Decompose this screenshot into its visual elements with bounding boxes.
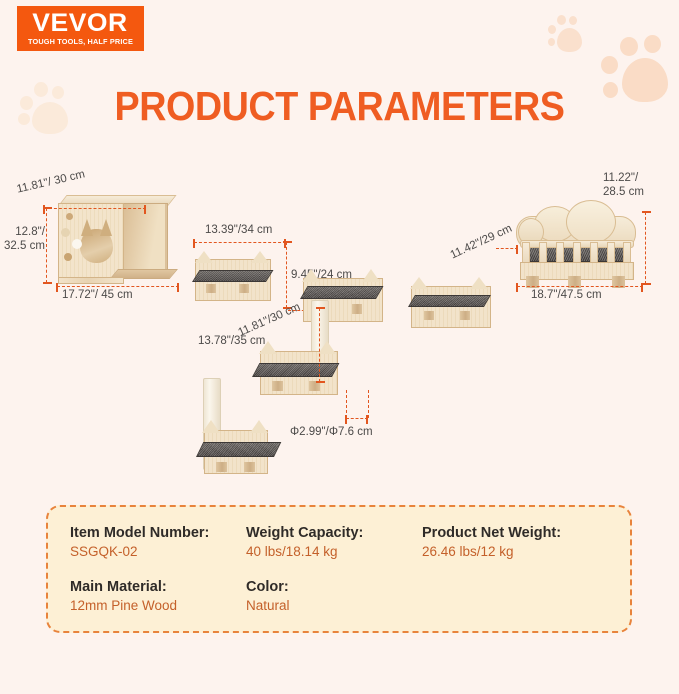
dimension-line-cloud-depth (496, 248, 518, 249)
cat-ear-left (202, 420, 220, 433)
spec-value: 40 lbs/18.14 kg (246, 543, 422, 561)
shelf-carpet-surface (408, 295, 491, 307)
dimension-line-cloud-width (517, 286, 643, 287)
decorative-hole (64, 253, 72, 261)
cat-ear-right (362, 269, 380, 282)
platform-bracket (244, 462, 255, 472)
vevor-logo: VEVOR TOUGH TOOLS, HALF PRICE (17, 6, 144, 51)
cat-ear-right (470, 277, 488, 289)
logo-wordmark: VEVOR (33, 12, 128, 35)
dimension-line-house-depth (57, 286, 179, 287)
shelf-backboard (411, 286, 491, 328)
dimension-label-house-depth: 17.72"/ 45 cm (62, 289, 133, 301)
shelf-carpet-surface (300, 286, 384, 299)
dimension-label-house-width-top: 11.81"/ 30 cm (16, 168, 87, 195)
cloud-railing-slats (522, 242, 630, 264)
product-platform-step-2 (252, 345, 340, 397)
dimension-line-house-height (46, 208, 47, 283)
product-cloud-perch (512, 200, 638, 296)
dimension-label-post-diameter: Φ2.99"/Φ7.6 cm (290, 426, 373, 438)
paw-print-decoration-top-right-small (548, 12, 590, 54)
platform-carpet-surface (252, 363, 339, 377)
spec-value: 12mm Pine Wood (70, 597, 246, 615)
spec-key: Weight Capacity: (246, 524, 422, 543)
dimension-label-shelf-depth: 11.81"/30 cm (236, 301, 302, 339)
dimension-line-cloud-height (645, 212, 646, 284)
dimension-label-house-height: 12.8"/ 32.5 cm (4, 226, 45, 253)
dimension-leader-post-left (346, 390, 347, 418)
dimension-line-step-rise (319, 308, 320, 382)
shelf-bracket (460, 311, 470, 320)
cat-ear-left (410, 277, 428, 289)
dimension-line-shelf-height (286, 242, 287, 308)
spec-value: SSGQK-02 (70, 543, 246, 561)
dimension-line-post-diameter (346, 418, 368, 419)
dimension-label-shelf-width: 13.39"/34 cm (205, 224, 272, 236)
shelf-bracket (352, 304, 362, 314)
shelf-bracket (206, 284, 216, 293)
dimension-label-cloud-height: 11.22"/ 28.5 cm (603, 172, 644, 199)
cat-ear-right (250, 420, 268, 433)
platform-carpet-surface (196, 442, 281, 457)
spec-item-main-material: Main Material: 12mm Pine Wood (70, 578, 246, 618)
spec-item-product-net-weight: Product Net Weight: 26.46 lbs/12 kg (422, 524, 616, 564)
spec-key: Color: (246, 578, 422, 597)
spec-key: Item Model Number: (70, 524, 246, 543)
decorative-hole (66, 213, 73, 220)
dimension-label-cloud-width: 18.7"/47.5 cm (531, 289, 602, 301)
cat-head-cutout (80, 219, 113, 263)
spec-item-model-number: Item Model Number: SSGQK-02 (70, 524, 246, 564)
specification-panel: Item Model Number: SSGQK-02 Weight Capac… (46, 505, 632, 633)
cat-ear-right (251, 251, 269, 263)
platform-bracket (216, 462, 227, 472)
spec-item-color: Color: Natural (246, 578, 422, 618)
dimension-line-shelf-width (194, 242, 286, 243)
cat-house-base-front (58, 277, 124, 284)
dimension-label-step-rise: 13.78"/35 cm (198, 335, 265, 347)
spec-value: Natural (246, 597, 422, 615)
cat-house-interior-shadow (122, 204, 165, 274)
shelf-carpet-surface (192, 270, 273, 282)
decorative-hole (72, 239, 82, 249)
cat-ear-right (318, 341, 336, 354)
product-wall-shelf-right (408, 280, 492, 328)
platform-bracket (272, 381, 283, 391)
cat-ear-left (195, 251, 213, 263)
cat-ear-left (302, 269, 320, 282)
shelf-bracket (239, 284, 249, 293)
dimension-label-cloud-depth: 11.42"/29 cm (449, 223, 514, 262)
spec-key: Product Net Weight: (422, 524, 616, 543)
spec-value: 26.46 lbs/12 kg (422, 543, 616, 561)
product-platform-step-3 (180, 422, 280, 478)
product-illustration: 11.81"/ 30 cm 12.8"/ 32.5 cm 17.72"/ 45 … (0, 150, 679, 500)
spec-key: Main Material: (70, 578, 246, 597)
spec-item-weight-capacity: Weight Capacity: 40 lbs/18.14 kg (246, 524, 422, 564)
decorative-hole (61, 228, 70, 237)
spec-cell-empty (422, 578, 616, 618)
page-title: PRODUCT PARAMETERS (27, 80, 652, 132)
logo-tagline: TOUGH TOOLS, HALF PRICE (28, 37, 133, 46)
dimension-leader-post-right (368, 390, 369, 418)
shelf-bracket (424, 311, 434, 320)
product-wall-shelf-upper (192, 254, 272, 302)
dimension-line-house-width-top (44, 208, 146, 209)
